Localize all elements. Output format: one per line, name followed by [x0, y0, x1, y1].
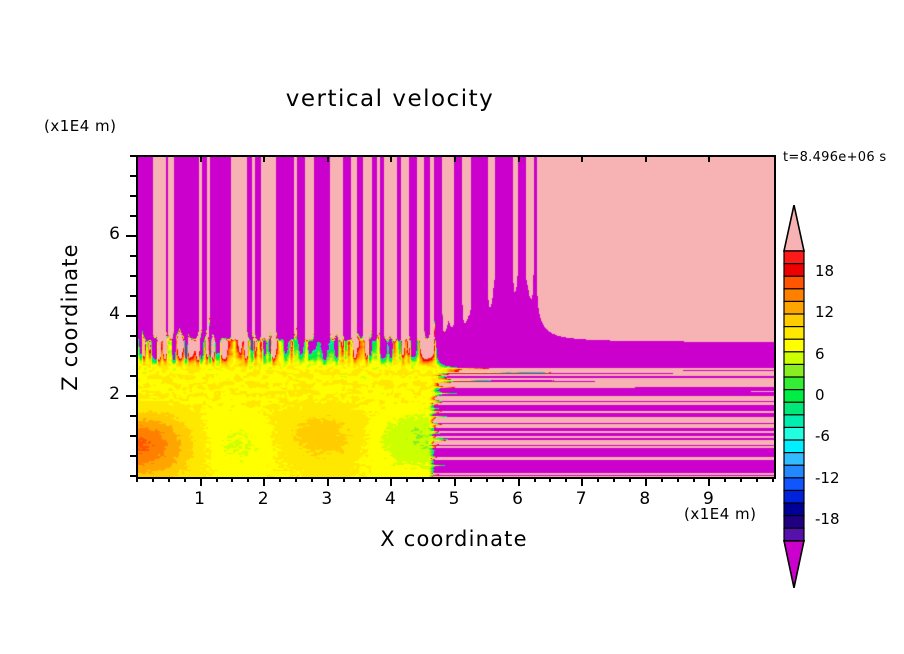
colorbar-tick-label: -12 [815, 469, 840, 487]
y-major-tick [126, 315, 136, 317]
x-major-tick-inner [645, 155, 647, 162]
y-major-tick [126, 395, 136, 397]
x-minor-tick [565, 477, 567, 482]
x-tick-label: 5 [434, 489, 474, 509]
y-minor-tick [130, 455, 136, 457]
x-minor-tick [756, 477, 758, 482]
contour-plot-area [136, 155, 776, 479]
x-major-tick [581, 477, 583, 486]
y-tick-label: 4 [88, 304, 120, 324]
colorbar-tick-label: 18 [815, 262, 834, 280]
x-major-tick-inner [708, 155, 710, 162]
x-major-tick-inner [454, 155, 456, 162]
x-minor-tick [724, 477, 726, 482]
y-tick-label: 2 [88, 384, 120, 404]
x-minor-tick [677, 477, 679, 482]
contour-field-canvas [138, 157, 774, 477]
colorbar [783, 205, 805, 520]
y-minor-tick [130, 255, 136, 257]
x-minor-tick [375, 477, 377, 482]
x-minor-tick [216, 477, 218, 482]
x-tick-label: 1 [180, 489, 220, 509]
x-minor-tick [295, 477, 297, 482]
y-minor-tick [130, 475, 136, 477]
y-minor-tick [130, 215, 136, 217]
colorbar-tick-label: -6 [815, 427, 830, 445]
x-major-tick-inner [390, 155, 392, 162]
x-major-tick-inner [581, 155, 583, 162]
y-minor-tick [130, 435, 136, 437]
x-axis-unit-label: (x1E4 m) [684, 505, 757, 523]
y-tick-label: 6 [88, 224, 120, 244]
x-minor-tick [343, 477, 345, 482]
x-minor-tick [422, 477, 424, 482]
x-minor-tick [136, 477, 138, 482]
y-axis-unit-label: (x1E4 m) [44, 117, 117, 135]
colorbar-svg [783, 205, 805, 588]
x-minor-tick [502, 477, 504, 482]
x-minor-tick [534, 477, 536, 482]
x-minor-tick [438, 477, 440, 482]
x-major-tick [390, 477, 392, 486]
y-minor-tick [130, 295, 136, 297]
x-axis-title: X coordinate [136, 527, 772, 551]
x-minor-tick [629, 477, 631, 482]
x-minor-tick [152, 477, 154, 482]
x-tick-label: 7 [561, 489, 601, 509]
x-major-tick [200, 477, 202, 486]
x-minor-tick [311, 477, 313, 482]
time-stamp-label: t=8.496e+06 s [783, 150, 886, 165]
x-major-tick [518, 477, 520, 486]
x-minor-tick [597, 477, 599, 482]
x-major-tick [645, 477, 647, 486]
x-minor-tick [359, 477, 361, 482]
colorbar-tick-label: 12 [815, 303, 834, 321]
x-major-tick [263, 477, 265, 486]
y-minor-tick [130, 195, 136, 197]
x-minor-tick [613, 477, 615, 482]
x-minor-tick [772, 477, 774, 482]
x-major-tick-inner [327, 155, 329, 162]
x-tick-label: 4 [370, 489, 410, 509]
y-minor-tick [130, 355, 136, 357]
x-minor-tick [470, 477, 472, 482]
y-major-tick [126, 235, 136, 237]
x-minor-tick [247, 477, 249, 482]
y-minor-tick [130, 335, 136, 337]
colorbar-tick-label: 0 [815, 386, 825, 404]
colorbar-tick-label: 6 [815, 345, 825, 363]
x-major-tick-inner [518, 155, 520, 162]
x-minor-tick [231, 477, 233, 482]
x-minor-tick [279, 477, 281, 482]
x-major-tick-inner [200, 155, 202, 162]
y-minor-tick [130, 175, 136, 177]
x-major-tick [454, 477, 456, 486]
colorbar-tick-label: -18 [815, 510, 840, 528]
x-minor-tick [661, 477, 663, 482]
x-tick-label: 8 [625, 489, 665, 509]
y-minor-tick [130, 375, 136, 377]
page-title: vertical velocity [0, 86, 780, 112]
x-minor-tick [486, 477, 488, 482]
y-minor-tick [130, 155, 136, 157]
y-minor-tick [130, 415, 136, 417]
x-tick-label: 6 [498, 489, 538, 509]
y-minor-tick [130, 275, 136, 277]
x-tick-label: 3 [307, 489, 347, 509]
x-major-tick [708, 477, 710, 486]
x-minor-tick [168, 477, 170, 482]
x-minor-tick [184, 477, 186, 482]
x-minor-tick [740, 477, 742, 482]
x-major-tick-inner [263, 155, 265, 162]
x-minor-tick [693, 477, 695, 482]
x-minor-tick [549, 477, 551, 482]
x-minor-tick [406, 477, 408, 482]
figure-root: vertical velocity (x1E4 m) t=8.496e+06 s… [0, 0, 904, 654]
x-major-tick [327, 477, 329, 486]
y-axis-title: Z coordinate [58, 187, 82, 447]
x-tick-label: 2 [243, 489, 283, 509]
